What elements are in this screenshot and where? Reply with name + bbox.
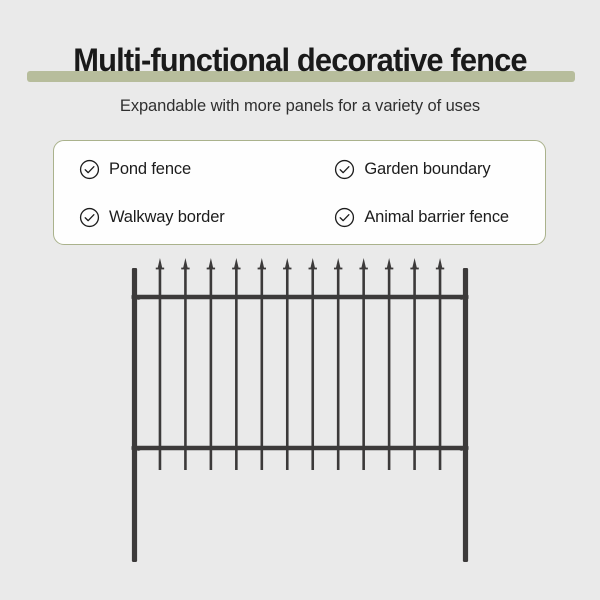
- fence-picket: [286, 267, 289, 470]
- fence-picket: [235, 267, 238, 470]
- fence-picket: [184, 267, 187, 470]
- fence-rail: [132, 295, 469, 299]
- fence-illustration: [0, 250, 600, 580]
- picket-finial: [361, 258, 366, 268]
- picket-finial-collar: [181, 268, 189, 270]
- check-circle-icon: [79, 159, 100, 180]
- fence-rail: [132, 446, 469, 450]
- picket-finial: [209, 258, 214, 268]
- page-title-block: Multi-functional decorative fence: [0, 38, 600, 86]
- fence-post: [463, 268, 468, 562]
- fence-picket: [337, 267, 340, 470]
- list-item: Pond fence: [54, 159, 309, 180]
- feature-label: Walkway border: [109, 208, 225, 227]
- picket-finial-collar: [283, 268, 291, 270]
- list-item: Animal barrier fence: [309, 207, 545, 228]
- feature-label: Garden boundary: [364, 160, 490, 179]
- picket-finial-collar: [359, 268, 367, 270]
- picket-finial-collar: [156, 268, 164, 270]
- picket-finial: [438, 258, 443, 268]
- fence-picket: [439, 267, 442, 470]
- fence-post: [132, 268, 137, 562]
- picket-finial-collar: [385, 268, 393, 270]
- picket-finial: [260, 258, 265, 268]
- list-item: Walkway border: [54, 207, 309, 228]
- fence-picket: [261, 267, 264, 470]
- product-image: [0, 250, 600, 580]
- page-subtitle: Expandable with more panels for a variet…: [0, 97, 600, 116]
- fence-picket: [311, 267, 314, 470]
- picket-finial: [310, 258, 315, 268]
- page-title: Multi-functional decorative fence: [11, 38, 590, 82]
- picket-finial-collar: [410, 268, 418, 270]
- picket-finial: [387, 258, 392, 268]
- check-circle-icon: [334, 207, 355, 228]
- picket-finial-collar: [436, 268, 444, 270]
- picket-finial: [183, 258, 188, 268]
- fence-picket: [413, 267, 416, 470]
- picket-finial: [412, 258, 417, 268]
- fence-picket: [159, 267, 162, 470]
- feature-list: Pond fence Garden boundary Walkway borde…: [54, 141, 545, 244]
- picket-finial: [285, 258, 290, 268]
- picket-finial-collar: [207, 268, 215, 270]
- picket-finial: [158, 258, 163, 268]
- picket-finial: [336, 258, 341, 268]
- check-circle-icon: [334, 159, 355, 180]
- list-item: Garden boundary: [309, 159, 545, 180]
- fence-picket: [210, 267, 213, 470]
- fence-picket: [388, 267, 391, 470]
- feature-card: Pond fence Garden boundary Walkway borde…: [53, 140, 546, 245]
- fence-picket: [362, 267, 365, 470]
- picket-finial-collar: [232, 268, 240, 270]
- picket-finial-collar: [334, 268, 342, 270]
- feature-label: Animal barrier fence: [364, 208, 509, 227]
- feature-label: Pond fence: [109, 160, 191, 179]
- picket-finial-collar: [258, 268, 266, 270]
- picket-finial: [234, 258, 239, 268]
- check-circle-icon: [79, 207, 100, 228]
- picket-finial-collar: [309, 268, 317, 270]
